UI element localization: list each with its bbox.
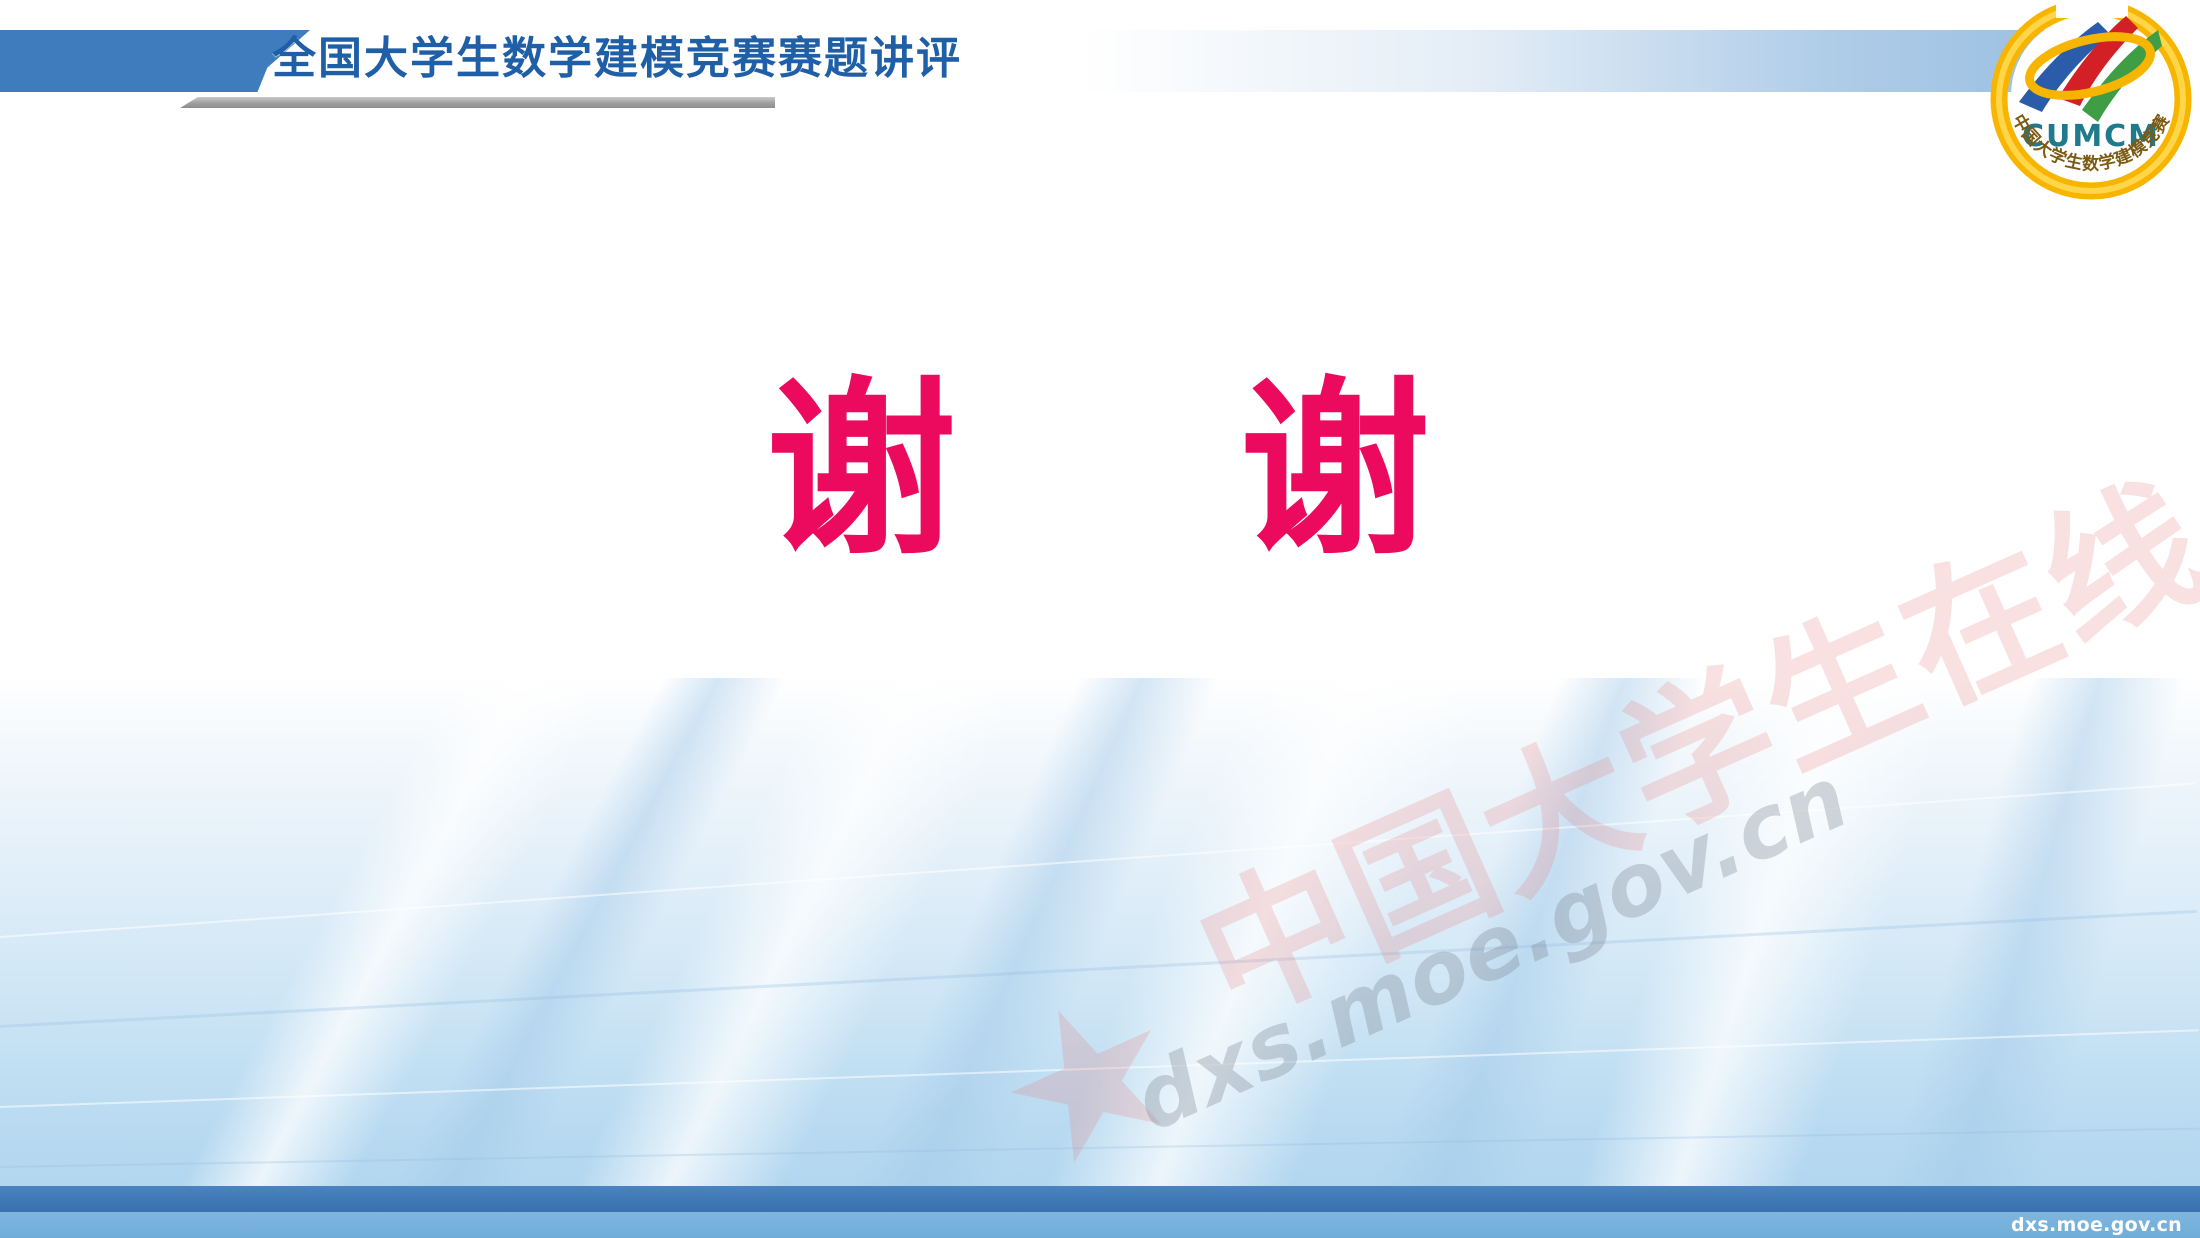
cumcm-logo-graphic: CUMCM 中国大学生数学建模竞赛 (1986, 0, 2196, 204)
footer-strip (0, 1212, 2200, 1238)
thanks-text: 谢 谢 (0, 370, 2200, 570)
slide-canvas: ★ 中国大学生在线 dxs.moe.gov.cn 全国大学生数学建模竞赛赛题讲评 (0, 0, 2200, 1238)
background-streaks (0, 678, 2200, 1238)
header-gradient-fade (1080, 30, 2120, 92)
page-title: 全国大学生数学建模竞赛赛题讲评 (272, 24, 962, 94)
footer-url: dxs.moe.gov.cn (2011, 1212, 2182, 1238)
cumcm-logo: CUMCM 中国大学生数学建模竞赛 (1986, 0, 2196, 204)
footer-blue-bar (0, 1186, 2200, 1212)
header-underline (180, 97, 775, 108)
